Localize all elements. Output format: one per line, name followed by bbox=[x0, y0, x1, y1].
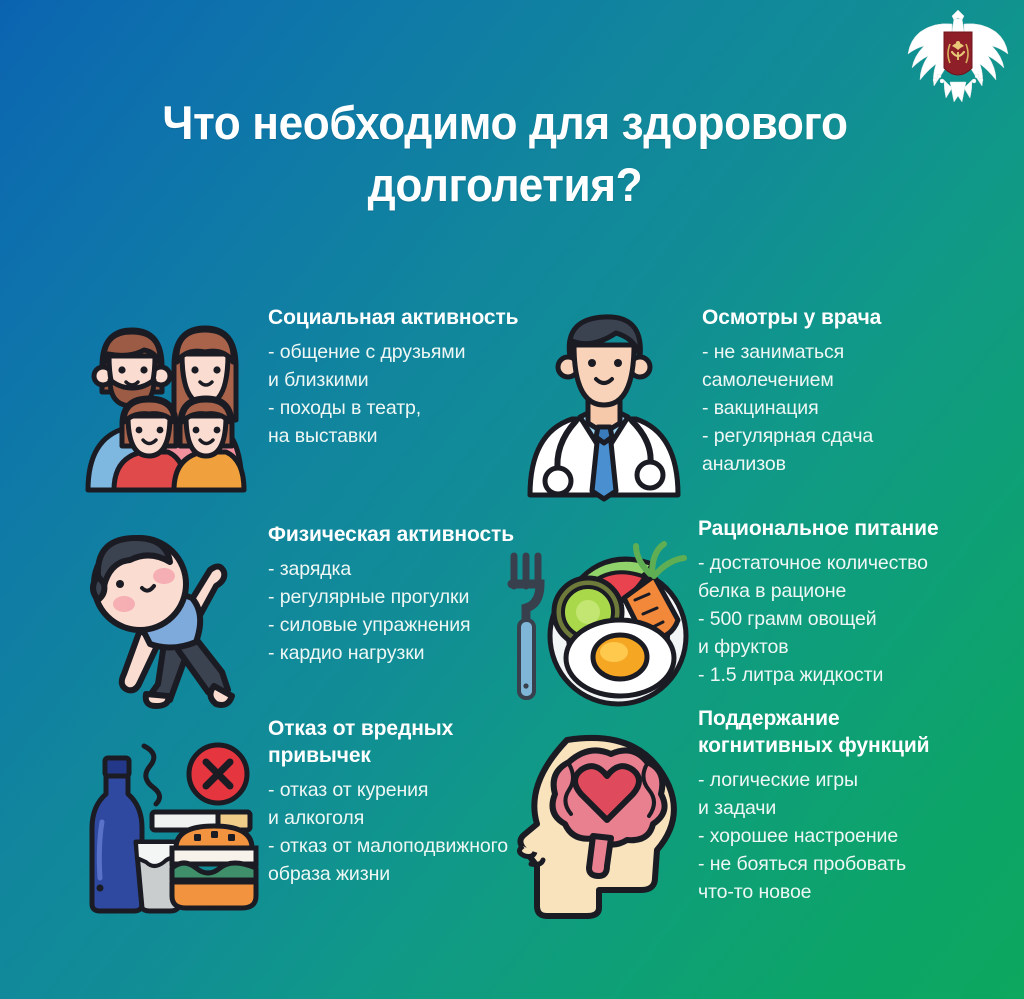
block-cognitive-functions: Поддержание когнитивных функций - логиче… bbox=[505, 706, 1017, 926]
cognitive-heading-line-2: когнитивных функций bbox=[698, 733, 929, 760]
physical-activity-line-2: - регулярные прогулки bbox=[268, 583, 514, 611]
physical-activity-line-4: - кардио нагрузки bbox=[268, 639, 514, 667]
bad-habits-line-4: образа жизни bbox=[268, 860, 508, 888]
cognitive-line-3: - хорошее настроение bbox=[698, 822, 929, 850]
cognitive-heading-line-1: Поддержание bbox=[698, 706, 929, 733]
nutrition-line-1: - достаточное количество bbox=[698, 549, 939, 577]
doctor-checkups-line-4: - регулярная сдача bbox=[702, 422, 881, 450]
cognitive-line-4: - не бояться пробовать bbox=[698, 850, 929, 878]
doctor-icon bbox=[520, 305, 688, 495]
nutrition-line-3: - 500 грамм овощей bbox=[698, 605, 939, 633]
nutrition-line-5: - 1.5 литра жидкости bbox=[698, 661, 939, 689]
social-activity-copy: Социальная активность - общение с друзья… bbox=[268, 305, 519, 450]
bad-habits-icon bbox=[72, 736, 257, 911]
bad-habits-line-2: и алкоголя bbox=[268, 804, 508, 832]
block-social-activity: Социальная активность - общение с друзья… bbox=[70, 300, 540, 500]
cognitive-line-5: что-то новое bbox=[698, 878, 929, 906]
cognitive-functions-copy: Поддержание когнитивных функций - логиче… bbox=[698, 706, 929, 906]
doctor-checkups-line-2: самолечением bbox=[702, 366, 881, 394]
social-activity-line-1: - общение с друзьями bbox=[268, 338, 519, 366]
bad-habits-line-3: - отказ от малоподвижного bbox=[268, 832, 508, 860]
eagle-medical-emblem bbox=[906, 6, 1010, 104]
page-title: Что необходимо для здорового долголетия? bbox=[96, 92, 914, 216]
block-physical-activity: Физическая активность - зарядка - регуля… bbox=[70, 518, 540, 708]
social-activity-line-4: на выставки bbox=[268, 422, 519, 450]
bad-habits-heading-line-1: Отказ от вредных bbox=[268, 716, 508, 743]
doctor-checkups-line-5: анализов bbox=[702, 450, 881, 478]
cognitive-line-2: и задачи bbox=[698, 794, 929, 822]
physical-activity-line-1: - зарядка bbox=[268, 555, 514, 583]
bad-habits-line-1: - отказ от курения bbox=[268, 776, 508, 804]
family-icon bbox=[74, 308, 254, 490]
healthy-plate-icon bbox=[502, 520, 690, 712]
exercise-person-icon bbox=[74, 526, 254, 706]
physical-activity-copy: Физическая активность - зарядка - регуля… bbox=[268, 522, 514, 667]
block-bad-habits: Отказ от вредных привычек - отказ от кур… bbox=[70, 716, 550, 926]
doctor-checkups-heading: Осмотры у врача bbox=[702, 305, 881, 332]
brain-heart-head-icon bbox=[507, 728, 689, 916]
doctor-checkups-line-3: - вакцинация bbox=[702, 394, 881, 422]
infographic-poster: Что необходимо для здорового долголетия? bbox=[0, 0, 1024, 999]
physical-activity-heading: Физическая активность bbox=[268, 522, 514, 549]
bad-habits-copy: Отказ от вредных привычек - отказ от кур… bbox=[268, 716, 508, 888]
cognitive-line-1: - логические игры bbox=[698, 766, 929, 794]
social-activity-line-2: и близкими bbox=[268, 366, 519, 394]
doctor-checkups-copy: Осмотры у врача - не заниматься самолече… bbox=[702, 305, 881, 478]
nutrition-line-2: белка в рационе bbox=[698, 577, 939, 605]
block-doctor-checkups: Осмотры у врача - не заниматься самолече… bbox=[512, 300, 1012, 500]
social-activity-line-3: - походы в театр, bbox=[268, 394, 519, 422]
title-line-1: Что необходимо для здорового bbox=[96, 92, 914, 154]
doctor-checkups-line-1: - не заниматься bbox=[702, 338, 881, 366]
title-line-2: долголетия? bbox=[96, 154, 914, 216]
bad-habits-heading-line-2: привычек bbox=[268, 743, 508, 770]
nutrition-line-4: и фруктов bbox=[698, 633, 939, 661]
physical-activity-line-3: - силовые упражнения bbox=[268, 611, 514, 639]
social-activity-heading: Социальная активность bbox=[268, 305, 519, 332]
block-nutrition: Рациональное питание - достаточное колич… bbox=[500, 512, 1012, 712]
nutrition-copy: Рациональное питание - достаточное колич… bbox=[698, 516, 939, 689]
nutrition-heading: Рациональное питание bbox=[698, 516, 939, 543]
